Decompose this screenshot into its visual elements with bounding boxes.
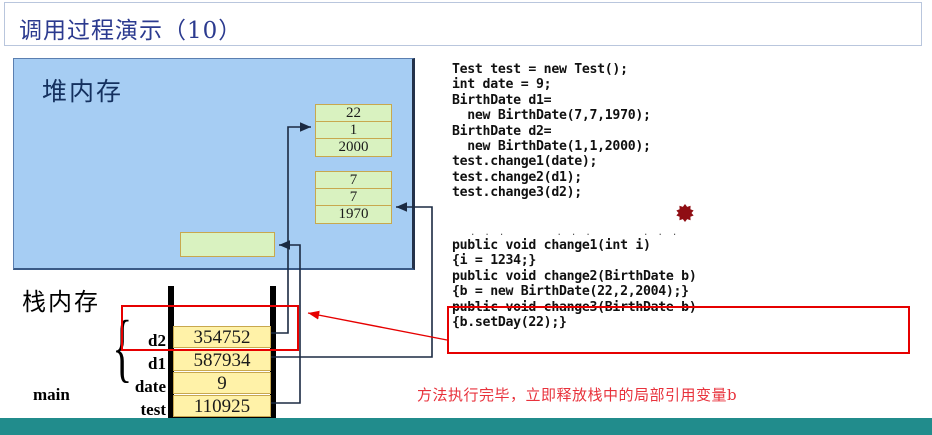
stack-row-value-d1: 587934 (173, 349, 271, 371)
heap-memory-label: 堆内存 (42, 72, 123, 108)
code-highlight-box-change3 (447, 306, 910, 354)
stack-row-value-date: 9 (173, 372, 271, 394)
heap-cell-day: 7 (316, 172, 391, 189)
execution-pointer-icon (676, 204, 694, 222)
stack-row-name-test: test (104, 400, 166, 420)
heap-object-d2: 22 1 2000 (315, 104, 392, 157)
page-title: 调用过程演示（10） (19, 11, 242, 45)
heap-cell-year: 1970 (316, 206, 391, 223)
heap-cell-month: 7 (316, 189, 391, 206)
stack-row-value-test: 110925 (173, 395, 271, 417)
slide-title-box: 调用过程演示（10） (4, 2, 922, 46)
code-ellipsis: ... ... ... (470, 228, 686, 238)
heap-cell-day: 22 (316, 105, 391, 122)
heap-object-d1: 7 7 1970 (315, 171, 392, 224)
bottom-teal-bar (0, 418, 932, 435)
stack-row-name-date: date (104, 377, 166, 397)
heap-cell-year: 2000 (316, 139, 391, 156)
stack-memory-label: 栈内存 (22, 282, 100, 317)
main-frame-label: main (33, 385, 70, 405)
slide-canvas: 调用过程演示（10） 堆内存 22 1 2000 7 7 1970 栈内存 { … (0, 0, 932, 435)
heap-cell-month: 1 (316, 122, 391, 139)
stack-row-name-d1: d1 (104, 354, 166, 374)
code-main-body: Test test = new Test(); int date = 9; Bi… (452, 62, 651, 201)
heap-object-test-instance (180, 232, 275, 257)
annotation-note: 方法执行完毕，立即释放栈中的局部引用变量b (417, 384, 737, 405)
stack-highlight-box-released-frame (121, 305, 299, 351)
